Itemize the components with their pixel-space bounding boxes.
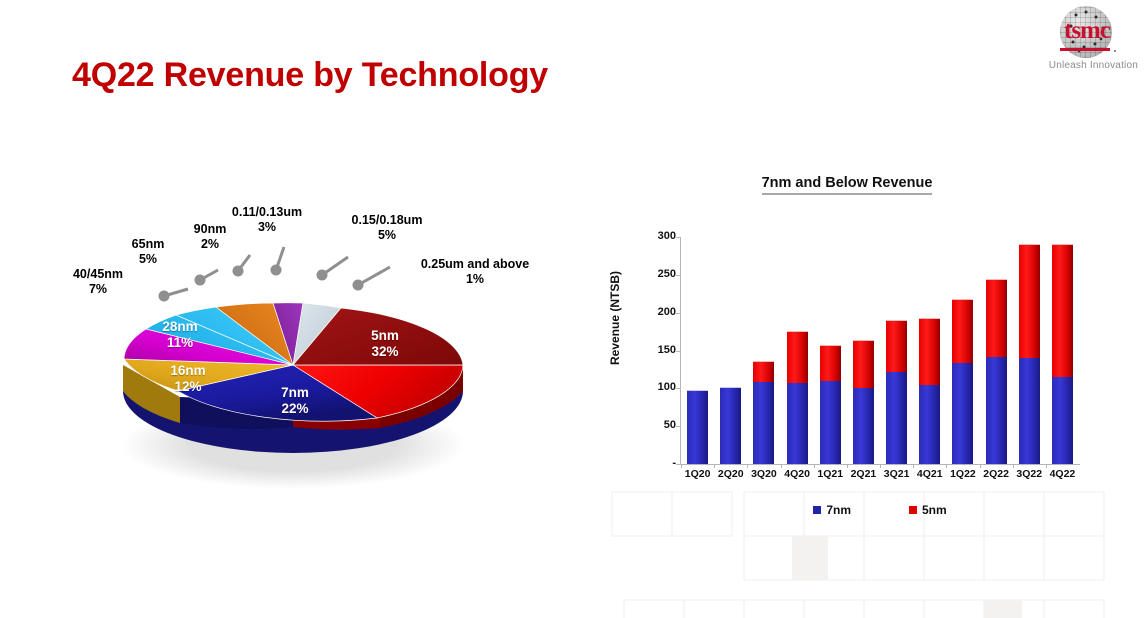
x-axis-tick-mark [814,464,815,468]
pie-slice-label-5nm: 5nm 32% [350,328,420,360]
y-axis-tick-label: 250 [636,268,676,280]
bar-chart-legend: 7nm 5nm [681,503,1079,517]
bar-group[interactable] [1052,245,1073,464]
x-axis-tick-label: 3Q21 [880,468,914,480]
bar-segment-5nm [787,331,808,383]
bar-group[interactable] [787,332,808,464]
pie-callout-015-018um: 0.15/0.18um 5% [332,213,442,243]
x-axis-tick-mark [1046,464,1047,468]
pie-slice-name: 5nm [371,328,399,343]
bar-segment-5nm [986,279,1007,357]
bar-segment-5nm [853,340,874,387]
logo-registered-mark [1114,50,1116,52]
x-axis-tick-mark [681,464,682,468]
bar-group[interactable] [720,388,741,464]
pie-chart: 40/45nm 7% 65nm 5% 90nm 2% 0.11/0.13um 3… [60,195,560,495]
y-axis-tick-label: - [636,457,676,469]
y-axis-tick-mark [676,237,680,238]
x-axis-tick-mark [747,464,748,468]
bar-chart-title: 7nm and Below Revenue [612,175,1082,191]
page-title: 4Q22 Revenue by Technology [72,56,548,95]
legend-item-5nm[interactable]: 5nm [909,503,947,517]
bar-segment-7nm [986,356,1007,464]
pie-callout-value: 2% [201,237,219,251]
bar-segment-5nm [886,320,907,372]
logo-tagline: Unleash Innovation [1032,60,1138,71]
pie-slice-value: 22% [281,401,308,416]
x-axis-tick-label: 2Q20 [714,468,748,480]
bar-group[interactable] [919,319,940,464]
bar-group[interactable] [687,391,708,464]
legend-swatch-5nm [909,506,917,514]
pie-callout-label: 0.25um and above [421,257,529,271]
pie-callout-011-013um: 0.11/0.13um 3% [212,205,322,235]
y-axis-tick-label: 100 [636,381,676,393]
tsmc-logo: tsmc Unleash Innovation [1032,4,1140,76]
x-axis-tick-label: 1Q21 [813,468,847,480]
bar-segment-7nm [853,387,874,464]
y-axis-ticks: -50100150200250300 [630,165,676,540]
bar-segment-5nm [919,318,940,386]
pie-callout-value: 1% [466,272,484,286]
y-axis-tick-mark [676,275,680,276]
pie-callout-40-45nm: 40/45nm 7% [48,267,148,297]
y-axis-tick-mark [676,351,680,352]
bar-group[interactable] [886,321,907,464]
bar-group[interactable] [820,346,841,464]
logo-wordmark: tsmc [1056,18,1118,43]
bar-plot-area [681,237,1079,464]
y-axis-tick-label: 300 [636,230,676,242]
x-axis-tick-label: 1Q22 [946,468,980,480]
bar-segment-5nm [952,299,973,364]
x-axis-tick-mark [980,464,981,468]
bar-group[interactable] [853,341,874,464]
bar-segment-7nm [1052,376,1073,464]
pie-slice-name: 7nm [281,385,309,400]
x-axis-tick-label: 1Q20 [681,468,715,480]
bar-segment-7nm [720,387,741,464]
pie-slice-name: 16nm [170,363,205,378]
bar-segment-5nm [1019,244,1040,359]
y-axis-tick-mark [676,426,680,427]
pie-callout-025um-and-above: 0.25um and above 1% [390,257,560,287]
pie-slice-label-7nm: 7nm 22% [260,385,330,417]
pie-callout-label: 40/45nm [73,267,123,281]
y-axis-tick-mark [676,464,680,465]
pie-callout-value: 5% [378,228,396,242]
bar-group[interactable] [952,300,973,464]
x-axis-tick-mark [946,464,947,468]
legend-item-7nm[interactable]: 7nm [813,503,851,517]
x-axis-tick-label: 2Q21 [846,468,880,480]
pie-callout-value: 3% [258,220,276,234]
bar-chart: 7nm and Below Revenue Revenue (NTSB) -50… [612,165,1112,540]
x-axis-tick-mark [714,464,715,468]
pie-slice-name: 28nm [162,319,197,334]
y-axis-tick-mark [676,313,680,314]
bar-segment-5nm [1052,244,1073,377]
bar-segment-7nm [886,371,907,464]
x-axis-tick-label: 4Q21 [913,468,947,480]
y-axis-tick-label: 200 [636,306,676,318]
bar-segment-7nm [919,384,940,464]
x-axis-tick-label: 3Q20 [747,468,781,480]
bar-group[interactable] [753,362,774,464]
x-axis-tick-label: 4Q22 [1045,468,1079,480]
x-axis-tick-mark [781,464,782,468]
pie-slice-label-16nm: 16nm 12% [153,363,223,395]
bar-segment-5nm [820,345,841,381]
logo-underbar [1060,48,1110,51]
pie-callout-label: 0.15/0.18um [352,213,423,227]
bar-segment-7nm [952,362,973,464]
pie-slice-label-28nm: 28nm 11% [145,319,215,351]
bar-group[interactable] [986,280,1007,464]
y-axis-tick-label: 150 [636,344,676,356]
x-axis-tick-mark [913,464,914,468]
bar-group[interactable] [1019,245,1040,464]
x-axis-tick-label: 2Q22 [979,468,1013,480]
y-axis-tick-label: 50 [636,419,676,431]
pie-callout-value: 5% [139,252,157,266]
bar-segment-7nm [687,390,708,464]
pie-callout-value: 7% [89,282,107,296]
x-axis-tick-mark [847,464,848,468]
legend-swatch-7nm [813,506,821,514]
legend-label-5nm: 5nm [922,503,947,517]
pie-slice-value: 12% [174,379,201,394]
bar-segment-7nm [753,381,774,464]
bar-segment-5nm [753,361,774,382]
bar-segment-7nm [1019,357,1040,464]
y-axis-title: Revenue (NTSB) [608,271,622,365]
x-axis-tick-label: 3Q22 [1012,468,1046,480]
pie-callout-label: 65nm [132,237,165,251]
legend-label-7nm: 7nm [826,503,851,517]
pie-slice-value: 11% [167,335,193,350]
bar-chart-title-text: 7nm and Below Revenue [762,175,933,195]
bar-segment-7nm [787,382,808,464]
y-axis-tick-mark [676,388,680,389]
x-axis-tick-label: 4Q20 [780,468,814,480]
x-axis-tick-mark [880,464,881,468]
bar-segment-7nm [820,380,841,464]
x-axis-tick-mark [1013,464,1014,468]
pie-slice-value: 32% [371,344,398,359]
pie-callout-label: 0.11/0.13um [232,205,302,219]
